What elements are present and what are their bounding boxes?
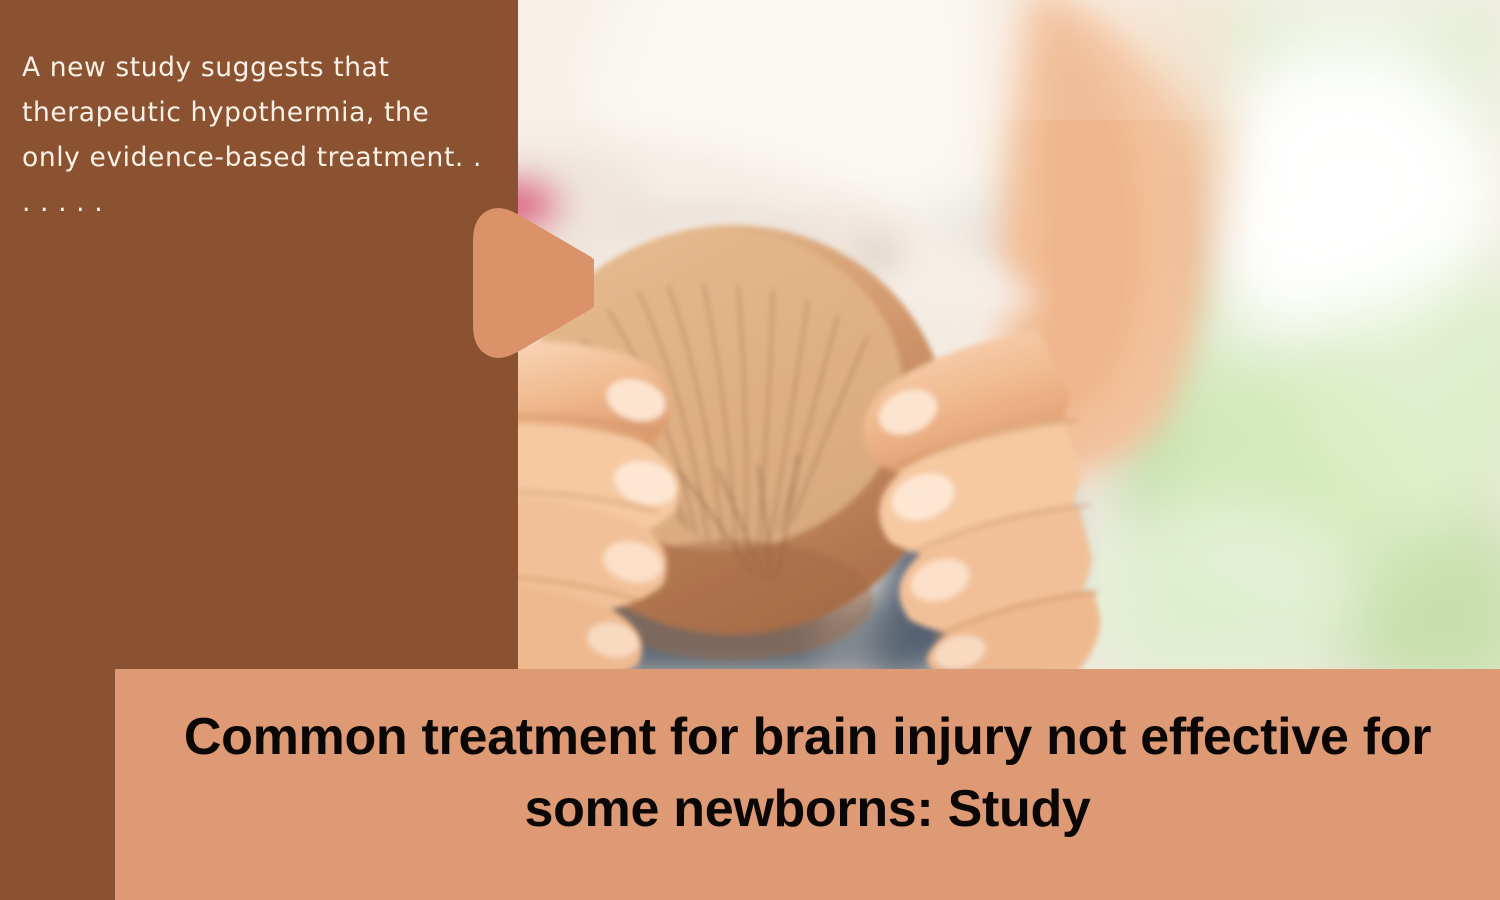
quote-panel-foot — [0, 669, 116, 900]
play-button[interactable] — [466, 207, 594, 359]
headline-bar: Common treatment for brain injury not ef… — [115, 669, 1500, 900]
article-photo — [518, 0, 1500, 672]
quote-text: A new study suggests that therapeutic hy… — [22, 45, 492, 225]
headline-text: Common treatment for brain injury not ef… — [138, 669, 1478, 845]
news-card: A new study suggests that therapeutic hy… — [0, 0, 1500, 900]
play-triangle-icon — [488, 223, 592, 343]
